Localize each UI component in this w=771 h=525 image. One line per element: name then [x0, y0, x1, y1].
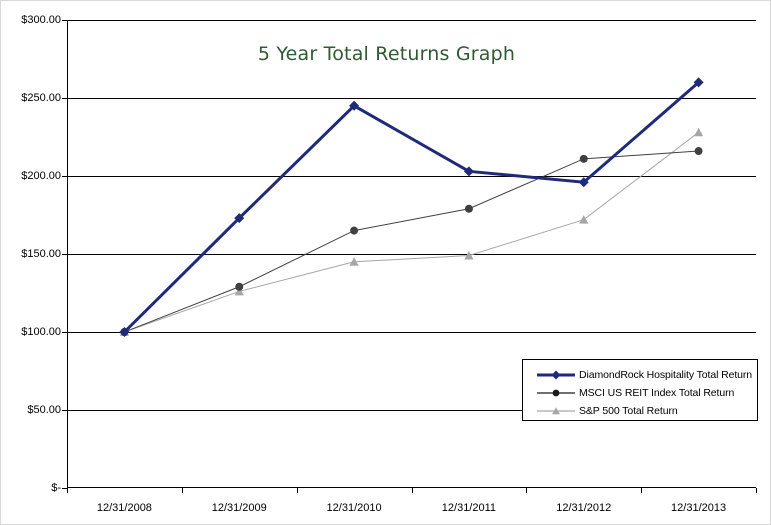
x-axis-tick — [182, 488, 183, 493]
legend-label-msci: MSCI US REIT Index Total Return — [579, 387, 734, 399]
x-axis-tick-label: 12/31/2008 — [64, 502, 184, 514]
x-axis-tick-label: 12/31/2009 — [179, 502, 299, 514]
legend-item-diamondrock: DiamondRock Hospitality Total Return — [523, 366, 757, 384]
x-axis-tick-label: 12/31/2010 — [294, 502, 414, 514]
legend-item-sp500: S&P 500 Total Return — [523, 402, 757, 420]
y-axis-tick-label: $200.00 — [3, 170, 61, 182]
series-line — [124, 151, 698, 332]
y-axis-tick-label: $100.00 — [3, 326, 61, 338]
x-axis-tick — [641, 488, 642, 493]
series-line — [124, 82, 698, 332]
y-axis-tick-label: $150.00 — [3, 248, 61, 260]
legend-item-msci: MSCI US REIT Index Total Return — [523, 384, 757, 402]
x-axis-tick-label: 12/31/2013 — [639, 502, 759, 514]
data-point-marker — [235, 283, 243, 291]
x-axis-tick — [526, 488, 527, 493]
data-point-marker — [464, 251, 473, 260]
y-axis-tick-label: $50.00 — [3, 404, 61, 416]
chart-frame: 5 Year Total Returns Graph $-$50.00$100.… — [0, 0, 771, 525]
x-axis-tick-label: 12/31/2011 — [409, 502, 529, 514]
data-point-marker — [465, 205, 473, 213]
y-axis-tick-label: $- — [3, 482, 61, 494]
legend-key-triangle-gray-icon — [533, 404, 579, 418]
data-point-marker — [350, 227, 358, 235]
chart-legend: DiamondRock Hospitality Total Return MSC… — [522, 359, 758, 421]
series-line — [124, 132, 698, 332]
x-axis-tick-label: 12/31/2012 — [524, 502, 644, 514]
x-axis-tick — [67, 488, 68, 493]
data-point-marker — [579, 215, 588, 224]
legend-label-diamondrock: DiamondRock Hospitality Total Return — [579, 369, 752, 381]
legend-key-circle-black-icon — [533, 386, 579, 400]
legend-label-sp500: S&P 500 Total Return — [579, 405, 678, 417]
data-point-marker — [695, 147, 703, 155]
x-axis-tick — [297, 488, 298, 493]
y-axis-tick-label: $300.00 — [3, 14, 61, 26]
y-axis-tick-label: $250.00 — [3, 92, 61, 104]
x-axis-tick — [756, 488, 757, 493]
data-point-marker — [694, 128, 703, 137]
x-axis-tick — [412, 488, 413, 493]
data-point-marker — [580, 155, 588, 163]
legend-key-diamond-navy-icon — [533, 368, 579, 382]
